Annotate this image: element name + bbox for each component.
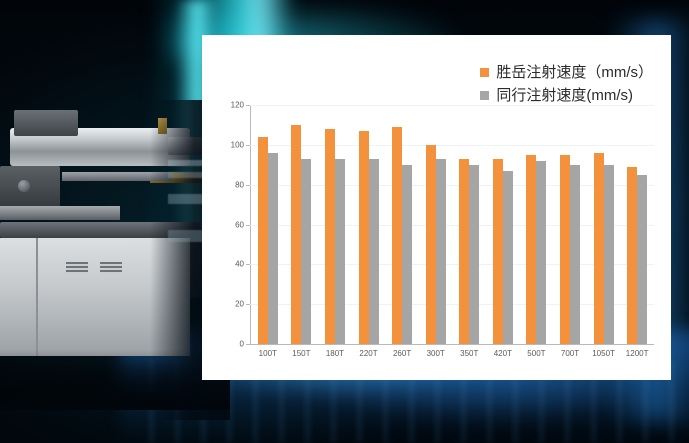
x-tick-label: 1200T xyxy=(620,349,654,358)
bar-series-1[interactable] xyxy=(570,165,580,344)
x-axis-labels: 100T150T180T220T260T300T350T420T500T700T… xyxy=(251,349,654,358)
y-tick-label: 120 xyxy=(231,101,244,110)
bar-group[interactable] xyxy=(419,105,453,344)
legend-swatch-gray xyxy=(480,91,489,100)
legend-label-series-1: 同行注射速度(mm/s) xyxy=(496,87,633,104)
bar-series-1[interactable] xyxy=(402,165,412,344)
x-tick-label: 220T xyxy=(352,349,386,358)
y-tick-label: 0 xyxy=(240,340,244,349)
y-tick-label: 20 xyxy=(235,300,244,309)
machine-motor-block xyxy=(14,110,78,136)
bar-group[interactable] xyxy=(251,105,285,344)
legend-swatch-orange xyxy=(480,68,489,77)
y-tick-label: 60 xyxy=(235,220,244,229)
y-tick-label: 80 xyxy=(235,180,244,189)
x-tick-label: 260T xyxy=(385,349,419,358)
y-tick-label: 40 xyxy=(235,260,244,269)
bar-series-1[interactable] xyxy=(436,159,446,344)
machine-cabinet-seam xyxy=(36,238,38,356)
bar-series-0[interactable] xyxy=(594,153,604,344)
bar-series-1[interactable] xyxy=(604,165,614,344)
screenshot-root: 胜岳注射速度（mm/s） 同行注射速度(mm/s) 02040608010012… xyxy=(0,0,689,443)
bar-series-0[interactable] xyxy=(392,127,402,344)
bar-group[interactable] xyxy=(318,105,352,344)
bar-series-0[interactable] xyxy=(459,159,469,344)
bar-series-0[interactable] xyxy=(493,159,503,344)
x-tick-label: 180T xyxy=(318,349,352,358)
chart-legend: 胜岳注射速度（mm/s） 同行注射速度(mm/s) xyxy=(480,64,653,110)
machine-vent-left xyxy=(66,262,88,274)
legend-item-series-1[interactable]: 同行注射速度(mm/s) xyxy=(480,87,653,104)
bar-series-0[interactable] xyxy=(325,129,335,344)
legend-item-series-0[interactable]: 胜岳注射速度（mm/s） xyxy=(480,64,653,81)
x-tick-label: 500T xyxy=(520,349,554,358)
bar-series-1[interactable] xyxy=(335,159,345,344)
legend-label-series-0: 胜岳注射速度（mm/s） xyxy=(496,64,653,81)
x-tick-label: 420T xyxy=(486,349,520,358)
bar-series-0[interactable] xyxy=(426,145,436,344)
bar-series-1[interactable] xyxy=(268,153,278,344)
x-tick-label: 350T xyxy=(452,349,486,358)
x-tick-label: 300T xyxy=(419,349,453,358)
x-tick-label: 1050T xyxy=(587,349,621,358)
bar-series-0[interactable] xyxy=(627,167,637,344)
machine-fade-bottom xyxy=(0,360,230,410)
y-tick-label: 100 xyxy=(231,140,244,149)
bar-series-0[interactable] xyxy=(258,137,268,344)
bar-group[interactable] xyxy=(620,105,654,344)
bar-series-1[interactable] xyxy=(469,165,479,344)
machine-rail xyxy=(0,206,120,220)
bar-group[interactable] xyxy=(285,105,319,344)
bar-groups xyxy=(251,105,654,344)
bar-group[interactable] xyxy=(520,105,554,344)
bar-series-0[interactable] xyxy=(291,125,301,344)
bar-group[interactable] xyxy=(553,105,587,344)
x-tick-label: 100T xyxy=(251,349,285,358)
bar-group[interactable] xyxy=(486,105,520,344)
bar-series-1[interactable] xyxy=(536,161,546,344)
bar-series-1[interactable] xyxy=(369,159,379,344)
bar-group[interactable] xyxy=(587,105,621,344)
bar-series-0[interactable] xyxy=(526,155,536,344)
bar-series-0[interactable] xyxy=(560,155,570,344)
chart-card: 胜岳注射速度（mm/s） 同行注射速度(mm/s) 02040608010012… xyxy=(202,35,671,380)
x-axis-line xyxy=(250,344,654,345)
machine-knob xyxy=(18,180,30,192)
x-tick-label: 700T xyxy=(553,349,587,358)
bar-series-1[interactable] xyxy=(503,171,513,344)
machine-vent-right xyxy=(100,262,122,274)
bar-series-1[interactable] xyxy=(301,159,311,344)
bar-group[interactable] xyxy=(352,105,386,344)
bar-series-1[interactable] xyxy=(637,175,647,344)
x-tick-label: 150T xyxy=(285,349,319,358)
bar-group[interactable] xyxy=(385,105,419,344)
bar-group[interactable] xyxy=(452,105,486,344)
bar-chart: 胜岳注射速度（mm/s） 同行注射速度(mm/s) 02040608010012… xyxy=(202,35,671,380)
bar-series-0[interactable] xyxy=(359,131,369,344)
